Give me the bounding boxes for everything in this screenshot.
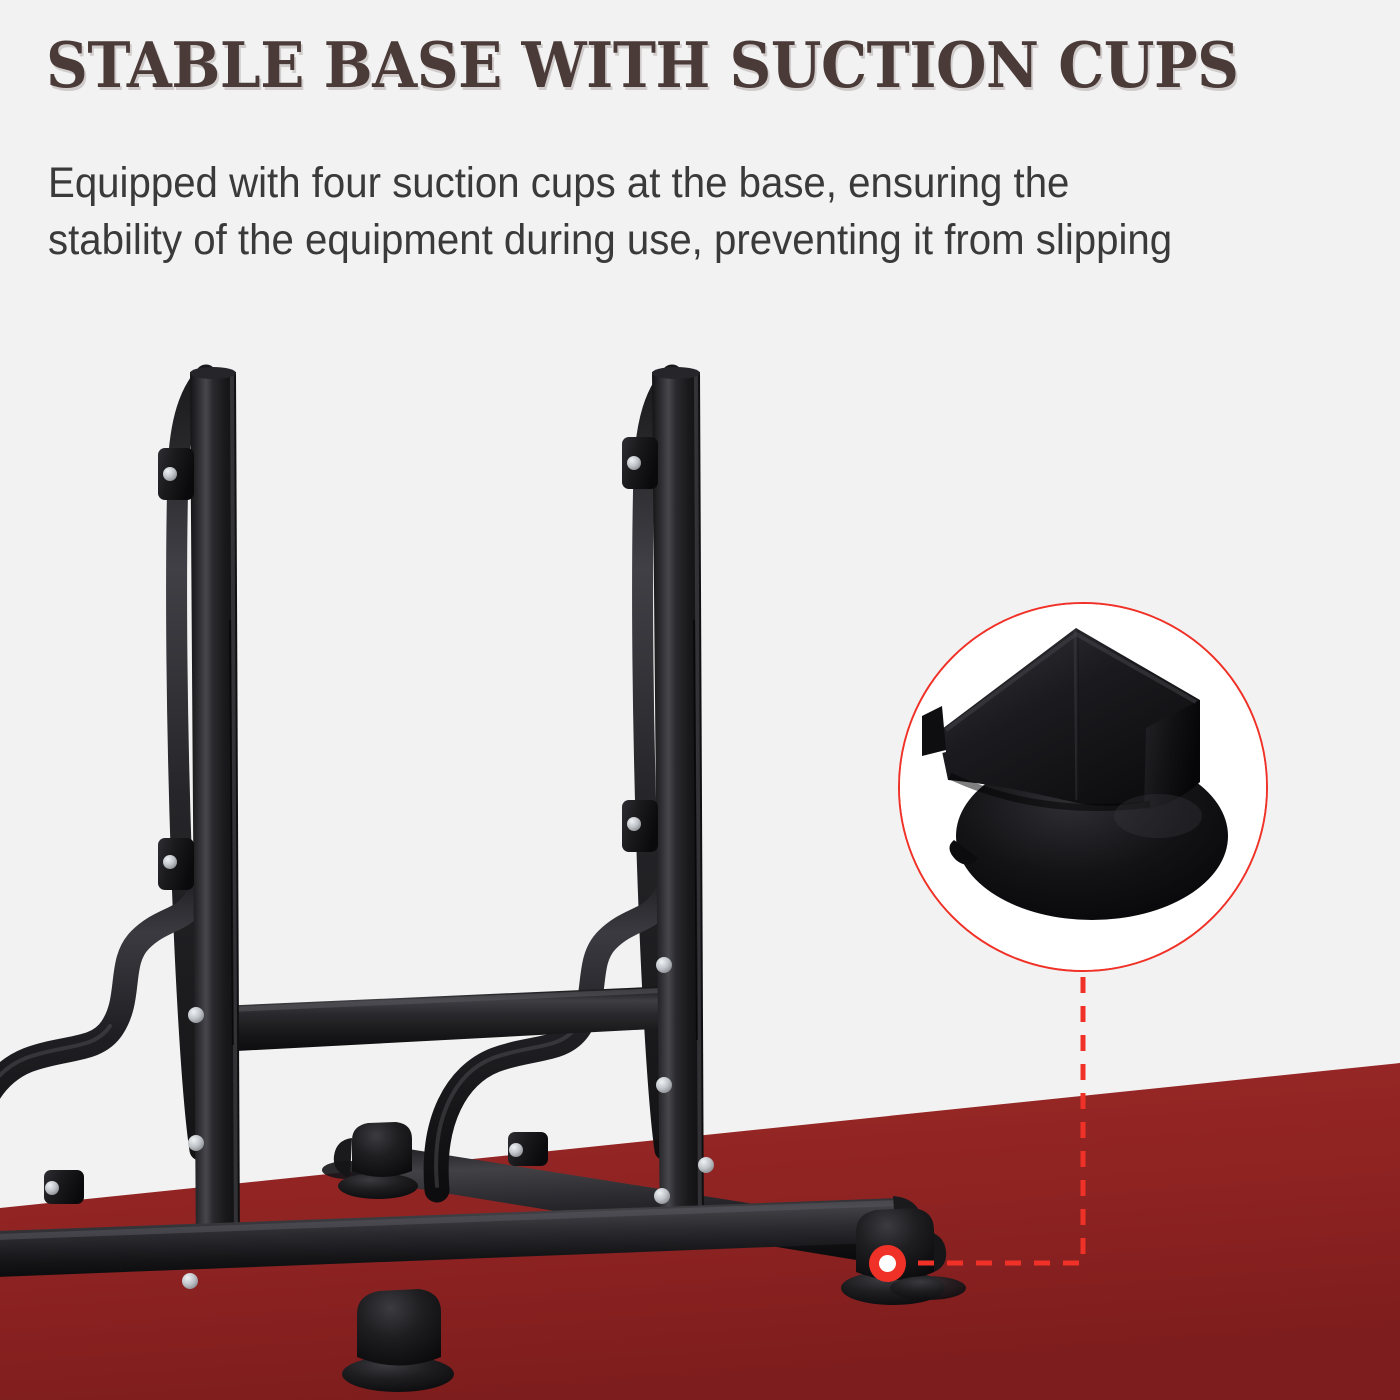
vertical-post-left (190, 367, 240, 1255)
suction-cup-foot-rear-right (890, 1276, 966, 1300)
suction-cup-marker-dot (869, 1245, 906, 1282)
suction-cup-closeup-photo (900, 604, 1266, 970)
page-title: STABLE BASE WITH SUCTION CUPS (46, 34, 1260, 97)
description-text: Equipped with four suction cups at the b… (48, 155, 1203, 269)
product-feature-image: STABLE BASE WITH SUCTION CUPS Equipped w… (0, 0, 1400, 1400)
suction-cup-foot-front-left (342, 1289, 454, 1392)
suction-cup-detail-callout (898, 602, 1268, 972)
vertical-post-right (652, 367, 704, 1240)
